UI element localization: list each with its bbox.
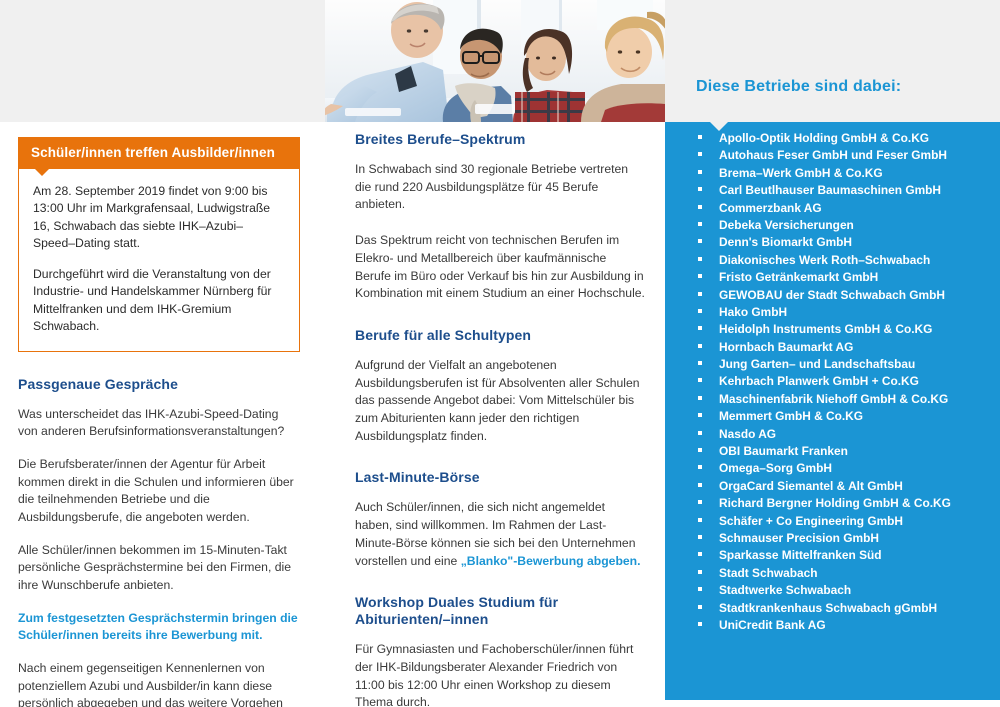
company-name: Debeka Versicherungen bbox=[719, 220, 854, 232]
company-name: Stadt Schwabach bbox=[719, 568, 817, 580]
bullet-square-icon bbox=[698, 239, 702, 243]
mid-heading-last-minute-boerse: Last-Minute-Börse bbox=[355, 469, 645, 486]
company-name: Sparkasse Mittelfranken Süd bbox=[719, 550, 882, 562]
mid-paragraph-1a: In Schwabach sind 30 regionale Betriebe … bbox=[355, 161, 645, 214]
company-name: Carl Beutlhauser Baumaschinen GmbH bbox=[719, 185, 941, 197]
company-list-item: OBI Baumarkt Franken bbox=[665, 446, 1000, 463]
bullet-square-icon bbox=[698, 170, 702, 174]
company-name: Autohaus Feser GmbH und Feser GmbH bbox=[719, 150, 947, 162]
mid-paragraph-3a: Auch Schüler/innen, die sich nicht angem… bbox=[355, 499, 645, 570]
mid-paragraph-4a: Für Gymnasiasten und Fachoberschüler/inn… bbox=[355, 641, 645, 707]
company-list-item: Richard Bergner Holding GmbH & Co.KG bbox=[665, 498, 1000, 515]
company-name: Hako GmbH bbox=[719, 307, 787, 319]
event-callout-box: Schüler/innen treffen Ausbilder/innen Am… bbox=[18, 137, 300, 352]
bullet-square-icon bbox=[698, 587, 702, 591]
right-panel-header-area: Diese Betriebe sind dabei: bbox=[665, 0, 1000, 122]
middle-column: Breites Berufe–Spektrum In Schwabach sin… bbox=[355, 131, 645, 707]
company-list-item: Memmert GmbH & Co.KG bbox=[665, 411, 1000, 428]
bullet-square-icon bbox=[698, 361, 702, 365]
right-panel-title: Diese Betriebe sind dabei: bbox=[696, 78, 901, 96]
bullet-square-icon bbox=[698, 205, 702, 209]
left-section-passgenaue: Passgenaue Gespräche Was unterscheidet d… bbox=[18, 376, 300, 707]
bullet-square-icon bbox=[698, 622, 702, 626]
callout-title: Schüler/innen treffen Ausbilder/innen bbox=[31, 145, 275, 160]
bullet-square-icon bbox=[698, 274, 702, 278]
bullet-square-icon bbox=[698, 518, 702, 522]
bullet-square-icon bbox=[698, 465, 702, 469]
mid-paragraph-3a-accent: „Blanko"-Bewerbung abgeben. bbox=[461, 554, 641, 568]
flyer-page: Schüler/innen treffen Ausbilder/innen Am… bbox=[0, 0, 1000, 707]
company-name: Commerzbank AG bbox=[719, 203, 822, 215]
company-list-item: Stadtkrankenhaus Schwabach gGmbH bbox=[665, 603, 1000, 620]
company-name: Memmert GmbH & Co.KG bbox=[719, 411, 863, 423]
callout-body: Am 28. September 2019 findet von 9:00 bi… bbox=[19, 169, 299, 352]
company-name: OrgaCard Siemantel & Alt GmbH bbox=[719, 481, 903, 493]
company-name: Jung Garten– und Landschaftsbau bbox=[719, 359, 915, 371]
company-name: Brema–Werk GmbH & Co.KG bbox=[719, 168, 883, 180]
company-list-item: GEWOBAU der Stadt Schwabach GmbH bbox=[665, 290, 1000, 307]
bullet-square-icon bbox=[698, 500, 702, 504]
left-paragraph-1: Was unterscheidet das IHK-Azubi-Speed-Da… bbox=[18, 406, 300, 441]
bullet-square-icon bbox=[698, 135, 702, 139]
mid-heading-schultypen: Berufe für alle Schultypen bbox=[355, 327, 645, 344]
company-list-item: Carl Beutlhauser Baumaschinen GmbH bbox=[665, 185, 1000, 202]
company-name: Fristo Getränkemarkt GmbH bbox=[719, 272, 878, 284]
bullet-square-icon bbox=[698, 570, 702, 574]
bullet-square-icon bbox=[698, 431, 702, 435]
company-name: Kehrbach Planwerk GmbH + Co.KG bbox=[719, 376, 919, 388]
company-name: Schmauser Precision GmbH bbox=[719, 533, 879, 545]
company-name: Maschinenfabrik Niehoff GmbH & Co.KG bbox=[719, 394, 948, 406]
company-list-item: Stadtwerke Schwabach bbox=[665, 585, 1000, 602]
left-paragraph-3: Alle Schüler/innen bekommen im 15-Minute… bbox=[18, 542, 300, 595]
bullet-square-icon bbox=[698, 292, 702, 296]
bullet-square-icon bbox=[698, 483, 702, 487]
company-name: Richard Bergner Holding GmbH & Co.KG bbox=[719, 498, 951, 510]
company-name: OBI Baumarkt Franken bbox=[719, 446, 848, 458]
callout-paragraph-1: Am 28. September 2019 findet von 9:00 bi… bbox=[33, 183, 285, 252]
bullet-square-icon bbox=[698, 257, 702, 261]
company-name: Stadtkrankenhaus Schwabach gGmbH bbox=[719, 603, 937, 615]
bullet-square-icon bbox=[698, 152, 702, 156]
bullet-square-icon bbox=[698, 344, 702, 348]
mid-heading-workshop-duales-studium: Workshop Duales Studium für Abiturienten… bbox=[355, 594, 645, 628]
bullet-square-icon bbox=[698, 448, 702, 452]
company-name: Omega–Sorg GmbH bbox=[719, 463, 832, 475]
company-list-item: UniCredit Bank AG bbox=[665, 620, 1000, 637]
left-section-heading: Passgenaue Gespräche bbox=[18, 376, 300, 393]
bullet-square-icon bbox=[698, 605, 702, 609]
left-paragraph-2: Die Berufsberater/innen der Agentur für … bbox=[18, 456, 300, 527]
company-list-item: Sparkasse Mittelfranken Süd bbox=[665, 550, 1000, 567]
callout-title-bar: Schüler/innen treffen Ausbilder/innen bbox=[19, 138, 299, 169]
company-name: Hornbach Baumarkt AG bbox=[719, 342, 853, 354]
company-name: Heidolph Instruments GmbH & Co.KG bbox=[719, 324, 932, 336]
company-name: Schäfer + Co Engineering GmbH bbox=[719, 516, 903, 528]
company-list: Apollo-Optik Holding GmbH & Co.KGAutohau… bbox=[665, 122, 1000, 637]
bullet-square-icon bbox=[698, 552, 702, 556]
mid-heading-berufe-spektrum: Breites Berufe–Spektrum bbox=[355, 131, 645, 148]
bullet-square-icon bbox=[698, 222, 702, 226]
hero-photo bbox=[325, 0, 665, 122]
bullet-square-icon bbox=[698, 396, 702, 400]
right-panel-companies: Apollo-Optik Holding GmbH & Co.KGAutohau… bbox=[665, 122, 1000, 700]
mid-paragraph-2a: Aufgrund der Vielfalt an angebotenen Aus… bbox=[355, 357, 645, 445]
left-column: Schüler/innen treffen Ausbilder/innen Am… bbox=[18, 137, 300, 707]
bullet-square-icon bbox=[698, 378, 702, 382]
mid-paragraph-1b: Das Spektrum reicht von technischen Beru… bbox=[355, 232, 645, 303]
left-closing-paragraph: Nach einem gegenseitigen Kennenlernen vo… bbox=[18, 660, 300, 707]
bullet-square-icon bbox=[698, 187, 702, 191]
company-name: Stadtwerke Schwabach bbox=[719, 585, 851, 597]
company-name: Denn's Biomarkt GmbH bbox=[719, 237, 852, 249]
company-name: Apollo-Optik Holding GmbH & Co.KG bbox=[719, 133, 929, 145]
bullet-square-icon bbox=[698, 309, 702, 313]
bullet-square-icon bbox=[698, 413, 702, 417]
bullet-square-icon bbox=[698, 535, 702, 539]
company-name: GEWOBAU der Stadt Schwabach GmbH bbox=[719, 290, 945, 302]
panel-notch-triangle bbox=[710, 122, 728, 131]
callout-paragraph-2: Durchgeführt wird die Veranstaltung von … bbox=[33, 266, 285, 335]
bullet-square-icon bbox=[698, 326, 702, 330]
company-name: Nasdo AG bbox=[719, 429, 776, 441]
company-name: UniCredit Bank AG bbox=[719, 620, 826, 632]
hero-photo-illustration bbox=[325, 0, 665, 122]
company-name: Diakonisches Werk Roth–Schwabach bbox=[719, 255, 930, 267]
left-accent-paragraph: Zum festgesetzten Gesprächstermin bringe… bbox=[18, 610, 300, 645]
callout-notch-triangle bbox=[35, 169, 49, 176]
company-list-item: Fristo Getränkemarkt GmbH bbox=[665, 272, 1000, 289]
